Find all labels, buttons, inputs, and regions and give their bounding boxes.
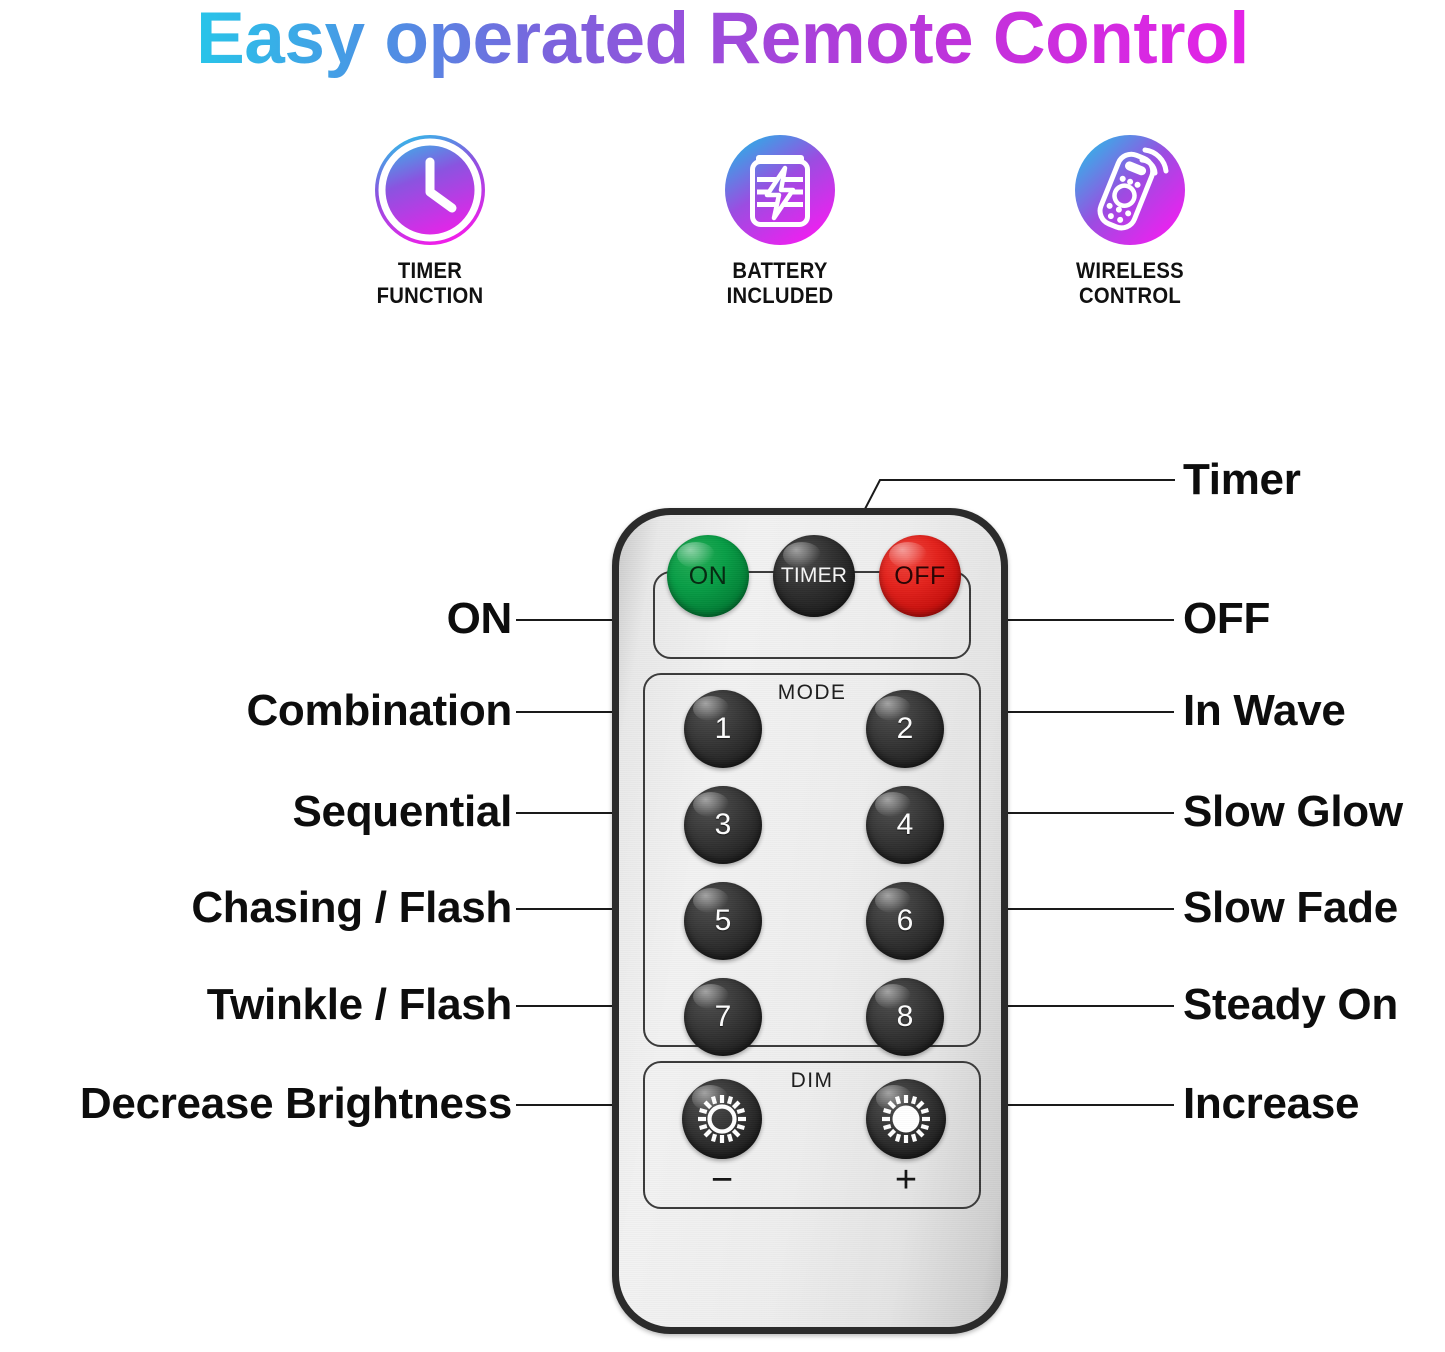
callout-steady-on: Steady On — [1183, 980, 1398, 1030]
callout-decrease-brightness: Decrease Brightness — [4, 1079, 512, 1129]
callout-sequential: Sequential — [116, 787, 512, 837]
dim-increase-button[interactable] — [866, 1079, 946, 1159]
brightness-low-icon — [695, 1092, 749, 1146]
callout-on: ON — [116, 594, 512, 644]
clock-icon — [372, 132, 488, 248]
dim-increase-sign: + — [866, 1165, 946, 1195]
callout-timer: Timer — [1183, 455, 1301, 505]
brightness-high-icon — [879, 1092, 933, 1146]
mode-button-4[interactable]: 4 — [866, 786, 944, 864]
dim-decrease-button[interactable] — [682, 1079, 762, 1159]
feature-label: TIMER FUNCTION — [292, 258, 568, 308]
remote-faceplate: ON TIMER OFF MODE 1 2 3 4 5 6 7 8 DIM — [619, 515, 1001, 1327]
on-button[interactable]: ON — [667, 535, 749, 617]
on-button-label: ON — [689, 562, 728, 591]
feature-timer-function: TIMER FUNCTION — [280, 132, 580, 322]
feature-label-line2: INCLUDED — [727, 283, 834, 308]
mode-button-label: 1 — [715, 712, 732, 746]
callout-off: OFF — [1183, 594, 1270, 644]
remote-signal-icon — [1072, 132, 1188, 248]
callout-slow-fade: Slow Fade — [1183, 883, 1398, 933]
dim-decrease-sign: − — [682, 1165, 762, 1195]
mode-button-label: 7 — [715, 1000, 732, 1034]
timer-button[interactable]: TIMER — [773, 535, 855, 617]
mode-button-label: 8 — [897, 1000, 914, 1034]
power-button-group: ON TIMER OFF — [653, 571, 971, 659]
feature-label: BATTERY INCLUDED — [642, 258, 918, 308]
battery-charge-icon — [722, 132, 838, 248]
mode-button-8[interactable]: 8 — [866, 978, 944, 1056]
mode-button-label: 3 — [715, 808, 732, 842]
callout-chasing-flash: Chasing / Flash — [106, 883, 512, 933]
mode-button-group: MODE 1 2 3 4 5 6 7 8 — [643, 673, 981, 1047]
callout-in-wave: In Wave — [1183, 686, 1346, 736]
feature-label-line1: BATTERY — [732, 258, 827, 283]
dim-button-group: DIM — [643, 1061, 981, 1209]
page-title: Easy operated Remote Control — [0, 0, 1445, 82]
off-button-label: OFF — [894, 562, 946, 591]
callout-twinkle-flash: Twinkle / Flash — [106, 980, 512, 1030]
feature-wireless-control: WIRELESS CONTROL — [980, 132, 1280, 322]
feature-label: WIRELESS CONTROL — [992, 258, 1268, 308]
mode-button-1[interactable]: 1 — [684, 690, 762, 768]
mode-button-2[interactable]: 2 — [866, 690, 944, 768]
remote-control-device: ON TIMER OFF MODE 1 2 3 4 5 6 7 8 DIM — [612, 508, 1008, 1334]
feature-label-line1: WIRELESS — [1076, 258, 1184, 283]
feature-battery-included: BATTERY INCLUDED — [630, 132, 930, 322]
off-button[interactable]: OFF — [879, 535, 961, 617]
mode-button-label: 2 — [897, 712, 914, 746]
feature-label-line2: FUNCTION — [377, 283, 484, 308]
mode-button-5[interactable]: 5 — [684, 882, 762, 960]
mode-button-label: 4 — [897, 808, 914, 842]
feature-label-line1: TIMER — [398, 258, 462, 283]
timer-button-label: TIMER — [781, 564, 847, 588]
feature-label-line2: CONTROL — [1079, 283, 1181, 308]
mode-button-3[interactable]: 3 — [684, 786, 762, 864]
callout-combination: Combination — [116, 686, 512, 736]
callout-slow-glow: Slow Glow — [1183, 787, 1403, 837]
mode-button-6[interactable]: 6 — [866, 882, 944, 960]
feature-badges: TIMER FUNCTION — [280, 132, 1280, 322]
mode-button-7[interactable]: 7 — [684, 978, 762, 1056]
mode-button-label: 6 — [897, 904, 914, 938]
mode-button-label: 5 — [715, 904, 732, 938]
callout-increase: Increase — [1183, 1079, 1359, 1129]
